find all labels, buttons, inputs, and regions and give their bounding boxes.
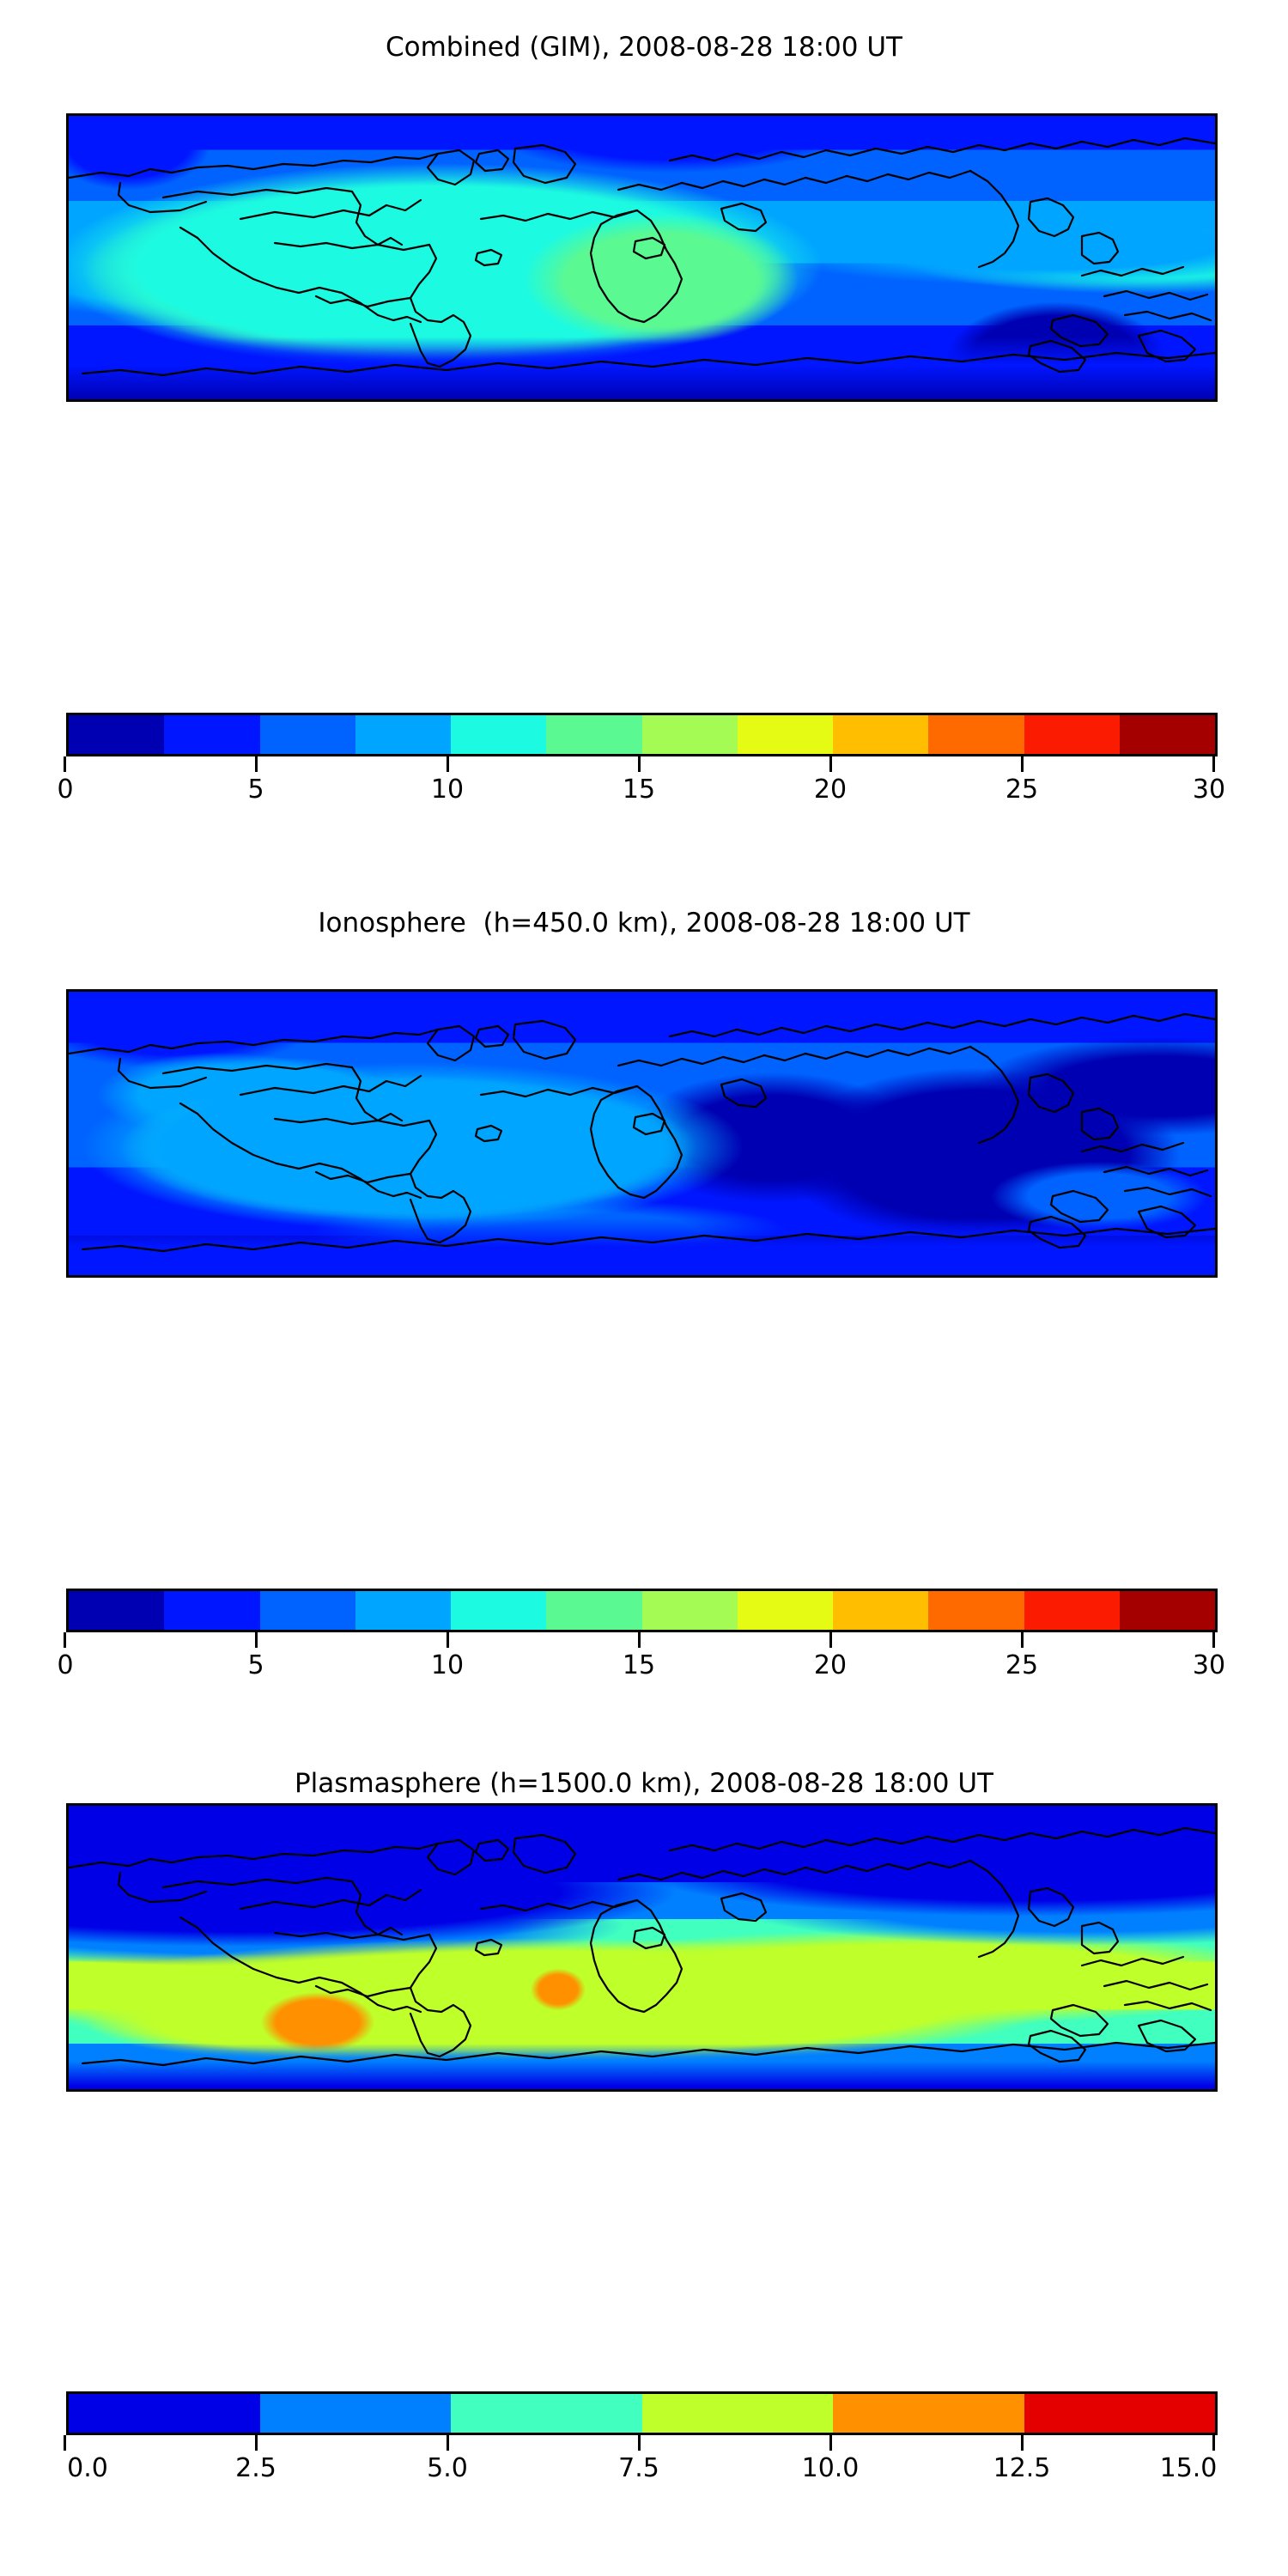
colorbar-ticklabel: 0.0 [67, 2454, 108, 2483]
colorbar-ticklabel: 0 [57, 775, 73, 805]
colorbar-bands-plasmasphere [66, 2391, 1218, 2435]
colorbar-band [69, 715, 164, 754]
colorbar-ticklabel: 10 [431, 1651, 464, 1680]
colorbar-band [642, 2394, 834, 2433]
colorbar-band [738, 1591, 833, 1630]
panel-ionosphere: Ionosphere (h=450.0 km), 2008-08-28 18:0… [0, 876, 1288, 1735]
colorbar-ticks-plasmasphere [64, 2435, 1215, 2454]
colorbar-band [164, 715, 259, 754]
colorbar-ticklabel: 15 [623, 1651, 655, 1680]
colorbar-bands-combined-gim [66, 713, 1218, 756]
colorbar-band [355, 1591, 451, 1630]
colorbar-ticklabel: 10 [431, 775, 464, 805]
map-axes-plasmasphere [66, 1803, 1218, 2092]
colorbar-ticklabel: 20 [814, 1651, 847, 1680]
figure-canvas: Combined (GIM), 2008-08-28 18:00 UT [0, 0, 1288, 2576]
colorbar-band [642, 1591, 738, 1630]
colorbar-ticklabel: 30 [1193, 1651, 1225, 1680]
colorbar-ticklabel: 5 [247, 775, 264, 805]
panel-title-ionosphere: Ionosphere (h=450.0 km), 2008-08-28 18:0… [0, 907, 1288, 939]
colorbar-ticklabels-combined-gim: 0 5 10 15 20 25 30 [64, 775, 1215, 810]
colorbar-band [1024, 1591, 1120, 1630]
panel-plasmasphere: Plasmasphere (h=1500.0 km), 2008-08-28 1… [0, 1743, 1288, 2576]
coastlines-plasmasphere [69, 1806, 1215, 2089]
colorbar-band [1024, 715, 1120, 754]
colorbar-ticklabel: 5.0 [427, 2454, 468, 2483]
colorbar-ticklabel: 2.5 [235, 2454, 276, 2483]
map-field-plasmasphere [69, 1806, 1215, 2089]
colorbar-band [833, 1591, 928, 1630]
colorbar-band [546, 715, 641, 754]
colorbar-band [451, 715, 546, 754]
coastlines-combined-gim [69, 116, 1215, 399]
colorbar-ticklabel: 25 [1005, 1651, 1038, 1680]
colorbar-band [928, 1591, 1024, 1630]
colorbar-bands-ionosphere [66, 1589, 1218, 1632]
colorbar-band [833, 715, 928, 754]
colorbar-ticklabels-ionosphere: 0 5 10 15 20 25 30 [64, 1651, 1215, 1686]
colorbar-ticklabel: 12.5 [993, 2454, 1051, 2483]
map-field-ionosphere [69, 992, 1215, 1275]
colorbar-band [164, 1591, 259, 1630]
colorbar-ticklabel: 10.0 [802, 2454, 860, 2483]
colorbar-ionosphere: 0 5 10 15 20 25 30 [66, 1589, 1212, 1686]
coastlines-ionosphere [69, 992, 1215, 1275]
colorbar-band [833, 2394, 1024, 2433]
colorbar-band [260, 1591, 355, 1630]
colorbar-ticklabel: 20 [814, 775, 847, 805]
map-axes-combined-gim [66, 113, 1218, 402]
colorbar-band [260, 715, 355, 754]
colorbar-band [1024, 2394, 1216, 2433]
colorbar-band [451, 1591, 546, 1630]
colorbar-ticklabel: 5 [247, 1651, 264, 1680]
colorbar-ticklabel: 0 [57, 1651, 73, 1680]
colorbar-band [260, 2394, 452, 2433]
map-field-combined-gim [69, 116, 1215, 399]
colorbar-ticklabel: 25 [1005, 775, 1038, 805]
map-axes-ionosphere [66, 989, 1218, 1278]
colorbar-band [355, 715, 451, 754]
panel-title-plasmasphere: Plasmasphere (h=1500.0 km), 2008-08-28 1… [0, 1767, 1288, 1800]
colorbar-ticks-ionosphere [64, 1632, 1215, 1651]
colorbar-band [1120, 715, 1215, 754]
colorbar-ticks-combined-gim [64, 756, 1215, 775]
colorbar-ticklabel: 7.5 [618, 2454, 659, 2483]
colorbar-combined-gim: 0 5 10 15 20 25 30 [66, 713, 1212, 810]
colorbar-band [928, 715, 1024, 754]
colorbar-band [738, 715, 833, 754]
colorbar-ticklabel: 15.0 [1160, 2454, 1218, 2483]
colorbar-band [451, 2394, 642, 2433]
colorbar-ticklabel: 30 [1193, 775, 1225, 805]
colorbar-band [1120, 1591, 1215, 1630]
panel-title-combined-gim: Combined (GIM), 2008-08-28 18:00 UT [0, 31, 1288, 64]
colorbar-ticklabels-plasmasphere: 0.0 2.5 5.0 7.5 10.0 12.5 15.0 [64, 2454, 1215, 2488]
panel-combined-gim: Combined (GIM), 2008-08-28 18:00 UT [0, 0, 1288, 859]
colorbar-band [546, 1591, 641, 1630]
colorbar-band [69, 1591, 164, 1630]
colorbar-plasmasphere: 0.0 2.5 5.0 7.5 10.0 12.5 15.0 [66, 2391, 1212, 2488]
colorbar-ticklabel: 15 [623, 775, 655, 805]
colorbar-band [642, 715, 738, 754]
colorbar-band [69, 2394, 260, 2433]
